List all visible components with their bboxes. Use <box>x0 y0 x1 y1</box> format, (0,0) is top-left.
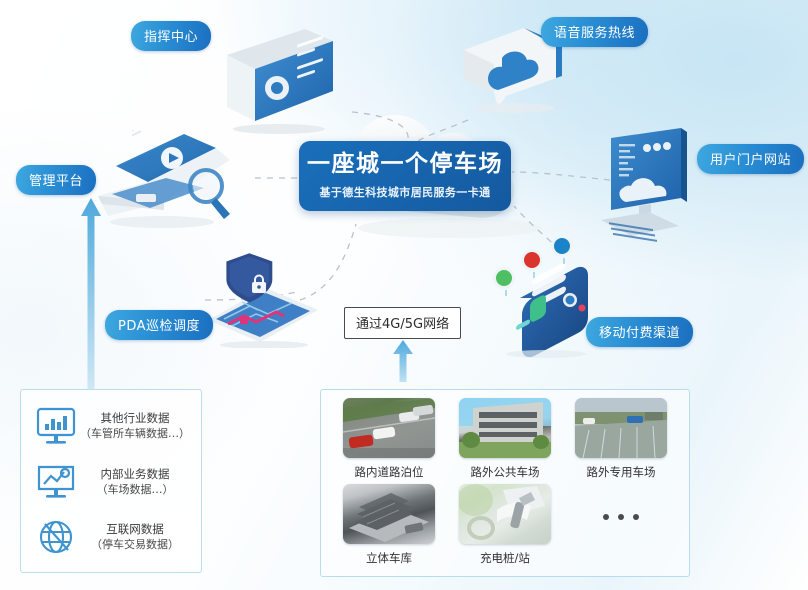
node-label-text: 移动付费渠道 <box>599 322 680 341</box>
scene-caption: 路内道路泊位 <box>355 464 424 480</box>
charging-pile-photo <box>459 484 551 544</box>
mechanical-garage-photo <box>343 484 435 544</box>
data-source-text: 互联网数据 （停车交易数据） <box>79 521 191 554</box>
arrow-up-icon-left <box>80 198 102 390</box>
scene-item[interactable]: 充电桩/站 <box>447 484 563 566</box>
node-label-text: PDA巡检调度 <box>118 315 200 334</box>
isometric-tablet-shield-lock-map-icon <box>198 252 326 348</box>
street-parking-photo <box>343 398 435 458</box>
data-source-text: 其他行业数据 （车管所车辆数据…） <box>79 410 191 443</box>
more-scenes-indicator <box>563 484 679 550</box>
node-label-pda-patrol[interactable]: PDA巡检调度 <box>105 310 213 340</box>
dedicated-parking-photo <box>575 398 667 458</box>
node-label-text: 指挥中心 <box>144 26 198 45</box>
node-label-text: 用户门户网站 <box>710 149 791 168</box>
data-source-item[interactable]: 互联网数据 （停车交易数据） <box>33 511 191 563</box>
data-sources-card: 其他行业数据 （车管所车辆数据…） 内部业务数据 （车场数据…） <box>20 389 202 573</box>
node-label-user-portal[interactable]: 用户门户网站 <box>697 144 804 174</box>
node-label-voice-hotline[interactable]: 语音服务热线 <box>541 17 648 47</box>
node-label-mobile-pay[interactable]: 移动付费渠道 <box>586 317 693 347</box>
parking-scenes-card: 路内道路泊位 <box>320 389 690 577</box>
scene-item[interactable]: 路外公共车场 <box>447 398 563 480</box>
banner-subtitle: 基于德生科技城市居民服务一卡通 <box>320 184 491 200</box>
node-label-command-center[interactable]: 指挥中心 <box>131 21 211 51</box>
node-label-text: 语音服务热线 <box>554 22 635 41</box>
banner-title: 一座城一个停车场 <box>307 153 503 176</box>
monitor-line-chart-icon <box>33 460 79 504</box>
diagram-canvas: 指挥中心 语音服务热线 用户门户网站 管理平台 PDA巡检调度 移动付费渠道 一… <box>0 0 808 590</box>
data-source-text: 内部业务数据 （车场数据…） <box>79 466 191 499</box>
globe-network-icon <box>33 515 79 559</box>
isometric-laptop-play-magnifier-icon <box>88 130 238 242</box>
arrow-up-icon <box>392 340 414 382</box>
parking-scenes-grid: 路内道路泊位 <box>331 398 679 570</box>
scene-caption: 路外公共车场 <box>471 464 540 480</box>
node-label-management[interactable]: 管理平台 <box>16 165 96 195</box>
monitor-bar-chart-icon <box>33 404 79 448</box>
public-parking-photo <box>459 398 551 458</box>
network-label-box: 通过4G/5G网络 <box>344 307 461 339</box>
data-source-item[interactable]: 其他行业数据 （车管所车辆数据…） <box>33 400 191 452</box>
scene-item[interactable]: 立体车库 <box>331 484 447 566</box>
scene-caption: 充电桩/站 <box>480 550 530 566</box>
dot-icon <box>618 514 624 520</box>
scene-item[interactable]: 路内道路泊位 <box>331 398 447 480</box>
data-source-note: （车场数据…） <box>79 482 191 498</box>
data-source-item[interactable]: 内部业务数据 （车场数据…） <box>33 456 191 508</box>
dot-icon <box>633 514 639 520</box>
scene-caption: 路外专用车场 <box>587 464 656 480</box>
dot-icon <box>603 514 609 520</box>
data-source-title: 互联网数据 <box>79 521 191 538</box>
data-source-title: 内部业务数据 <box>79 466 191 483</box>
center-banner: 一座城一个停车场 基于德生科技城市居民服务一卡通 <box>299 141 511 211</box>
data-source-title: 其他行业数据 <box>79 410 191 427</box>
data-source-note: （车管所车辆数据…） <box>79 426 191 442</box>
data-source-note: （停车交易数据） <box>79 537 191 553</box>
scene-caption: 立体车库 <box>366 550 412 566</box>
node-label-text: 管理平台 <box>29 170 83 189</box>
network-label-text: 通过4G/5G网络 <box>356 317 449 332</box>
isometric-monitor-gear-icon <box>215 25 345 135</box>
scene-item[interactable]: 路外专用车场 <box>563 398 679 480</box>
